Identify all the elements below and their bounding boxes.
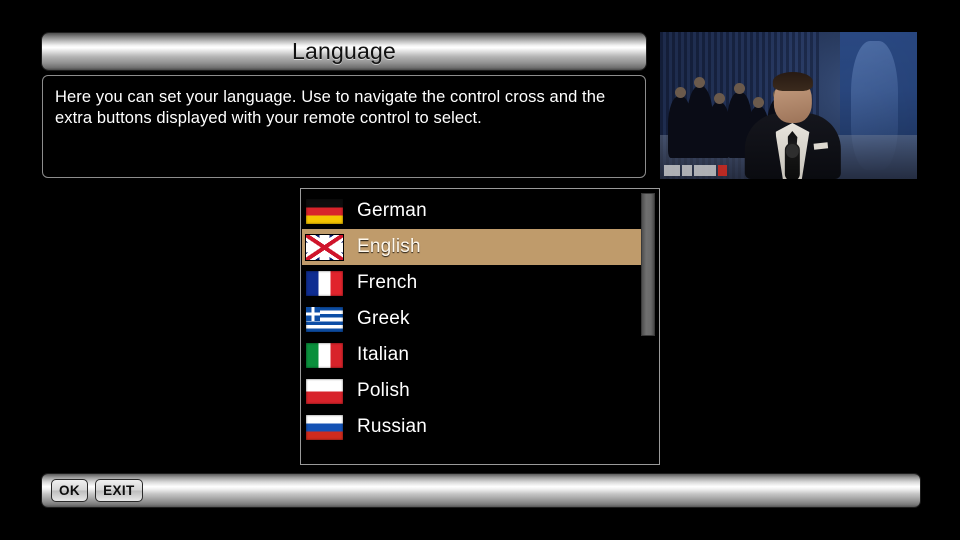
scrollbar-thumb[interactable] — [641, 193, 655, 336]
flag-de-icon — [306, 199, 343, 224]
language-list-panel[interactable]: German English French Greek Italian Poli — [300, 188, 660, 465]
flag-it-icon — [306, 343, 343, 368]
exit-button[interactable]: EXIT — [95, 479, 143, 502]
flag-ru-icon — [306, 415, 343, 440]
video-reporter — [744, 75, 840, 179]
list-item[interactable]: Russian — [302, 409, 642, 445]
page-title: Language — [292, 38, 396, 65]
language-list: German English French Greek Italian Poli — [302, 193, 642, 445]
flag-gr-icon — [306, 307, 343, 332]
list-item[interactable]: Italian — [302, 337, 642, 373]
list-item-label: German — [357, 200, 427, 222]
flag-fr-icon — [306, 271, 343, 296]
list-item-label: Russian — [357, 416, 427, 438]
action-bar: OK EXIT — [42, 474, 920, 507]
list-item[interactable]: Polish — [302, 373, 642, 409]
microphone-icon — [784, 143, 799, 179]
osd-screen: Language Here you can set your language.… — [0, 0, 960, 540]
scrollbar-track[interactable] — [643, 191, 657, 464]
ok-button[interactable]: OK — [51, 479, 88, 502]
list-item[interactable]: German — [302, 193, 642, 229]
page-title-bar: Language — [42, 33, 646, 70]
list-item-label: Polish — [357, 380, 410, 402]
description-text: Here you can set your language. Use to n… — [55, 87, 633, 129]
list-item[interactable]: English — [302, 229, 642, 265]
description-panel: Here you can set your language. Use to n… — [42, 75, 646, 178]
flag-gb-icon — [306, 235, 343, 260]
channel-bug — [664, 165, 727, 176]
list-item-label: Greek — [357, 308, 410, 330]
list-item[interactable]: French — [302, 265, 642, 301]
live-tv-preview[interactable] — [660, 32, 917, 179]
flag-pl-icon — [306, 379, 343, 404]
list-item[interactable]: Greek — [302, 301, 642, 337]
list-item-label: French — [357, 272, 417, 294]
list-item-label: English — [357, 236, 421, 258]
list-item-label: Italian — [357, 344, 409, 366]
